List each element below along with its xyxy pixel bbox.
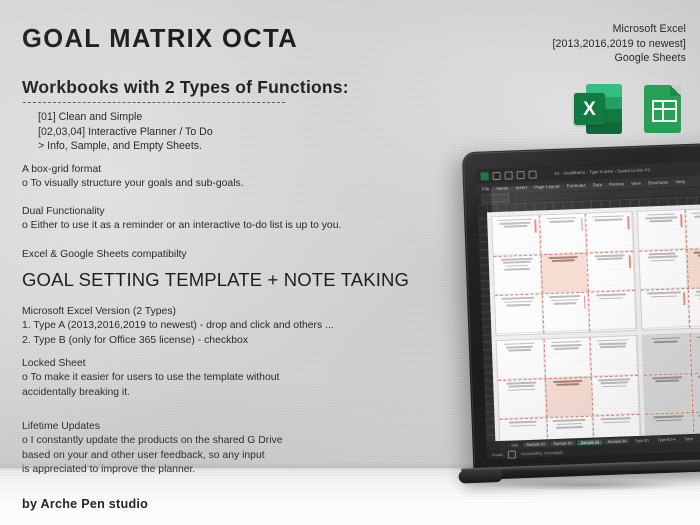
matrix-cell[interactable] [590, 335, 638, 376]
section-box-grid: A box-grid format o To visually structur… [22, 163, 244, 192]
section-excel-version: Microsoft Excel Version (2 Types) 1. Typ… [22, 305, 334, 348]
section-lifetime-updates: Lifetime Updates o I constantly update t… [22, 420, 283, 478]
matrix-cell[interactable] [591, 375, 639, 416]
list-item: [01] Clean and Simple [38, 110, 213, 125]
sheet-tab-type-b1[interactable]: Type B1 [632, 437, 652, 444]
sheet-tab-sample-02[interactable]: Sample 02 [550, 440, 575, 447]
sheets-icon-fold [670, 85, 681, 96]
matrix-cell[interactable] [685, 208, 700, 249]
section-line: o Either to use it as a reminder or an i… [22, 219, 341, 233]
section-compatibility: Excel & Google Sheets compatibilty [22, 248, 187, 262]
goal-matrix-board[interactable] [496, 334, 642, 442]
laptop-foot [458, 469, 502, 484]
matrix-cell[interactable] [539, 213, 587, 254]
section-heading: Microsoft Excel Version (2 Types) [22, 305, 334, 319]
goal-matrix-board[interactable] [637, 205, 700, 330]
section-heading: A box-grid format [22, 163, 244, 177]
undo-icon[interactable] [516, 171, 524, 179]
ribbon-tab-developer[interactable]: Developer [648, 179, 669, 185]
google-sheets-icon [638, 84, 686, 134]
autosave-toggle-icon[interactable] [492, 172, 500, 180]
page-title: GOAL MATRIX OCTA [22, 25, 298, 54]
compatibility-header: Microsoft Excel [2013,2016,2019 to newes… [552, 22, 686, 66]
laptop-screen: 01 - GoalMatrix - Type A.xlsm - Saved to… [476, 159, 700, 459]
ribbon-tab-review[interactable]: Review [609, 181, 624, 187]
matrix-cell[interactable] [494, 254, 542, 295]
sheet-tab-sample-04[interactable]: Sample 04 [605, 438, 630, 445]
section-line: accidentally breaking it. [22, 386, 279, 400]
name-box[interactable] [481, 194, 509, 204]
excel-icon-badge: X [574, 93, 605, 125]
sheets-icon-body [644, 85, 681, 133]
section-heading: Locked Sheet [22, 357, 279, 371]
matrix-cell[interactable] [542, 292, 590, 333]
matrix-cell[interactable] [497, 339, 545, 380]
section-line: is appreciated to improve the planner. [22, 463, 283, 477]
section-line: 1. Type A (2013,2016,2019 to newest) - d… [22, 319, 334, 333]
workbook-title: 01 - GoalMatrix - Type A.xlsm - Saved to… [554, 168, 650, 177]
status-accessibility[interactable]: Accessibility: Investigate [521, 450, 563, 455]
sheet-tab-sample-03[interactable]: Sample 03 [578, 439, 603, 446]
matrix-cell[interactable] [587, 251, 635, 292]
header-line-excel: Microsoft Excel [552, 22, 686, 37]
goal-matrix-board[interactable] [491, 210, 637, 335]
sheet-tab-info[interactable]: Info [508, 442, 521, 448]
header-line-sheets: Google Sheets [552, 51, 686, 66]
matrix-cell-highlight[interactable] [545, 376, 593, 417]
spreadsheet-grid[interactable] [487, 202, 700, 443]
matrix-cell[interactable] [585, 212, 633, 253]
ribbon-tab-help[interactable]: Help [676, 179, 686, 184]
sheet-tab-type[interactable]: Type [681, 435, 696, 441]
sheets-icon-table [652, 100, 677, 122]
list-item: > Info, Sample, and Empty Sheets. [38, 139, 213, 154]
section-line: o I constantly update the products on th… [22, 434, 283, 448]
matrix-cell[interactable] [495, 294, 543, 335]
section-line: 2. Type B (only for Office 365 license) … [22, 334, 334, 348]
sheet-tab-sample-01[interactable]: Sample 01 [523, 441, 548, 448]
accessibility-icon[interactable] [508, 450, 516, 458]
matrix-cell[interactable] [643, 334, 691, 375]
section-dual-functionality: Dual Functionality o Either to use it as… [22, 205, 341, 234]
goal-matrix-board-empty[interactable] [642, 329, 700, 443]
matrix-cell[interactable] [641, 288, 689, 329]
author-byline: by Arche Pen studio [22, 497, 148, 511]
matrix-cell[interactable] [639, 249, 687, 290]
save-icon[interactable] [504, 171, 512, 179]
section-line: o To visually structure your goals and s… [22, 177, 244, 191]
workbooks-list: [01] Clean and Simple [02,03,04] Interac… [38, 110, 213, 154]
goal-matrix-boards [487, 202, 700, 443]
excel-icon: X [574, 84, 622, 134]
laptop-mockup: 01 - GoalMatrix - Type A.xlsm - Saved to… [462, 141, 700, 487]
section-line: based on your and other user feedback, s… [22, 449, 283, 463]
section-heading: Excel & Google Sheets compatibilty [22, 248, 187, 262]
sheet-tab-type-b2a[interactable]: Type B2-A [655, 436, 679, 443]
status-ready: Ready [492, 452, 503, 456]
matrix-cell[interactable] [492, 215, 540, 256]
list-item: [02,03,04] Interactive Planner / To Do [38, 125, 213, 140]
section-locked-sheet: Locked Sheet o To make it easier for use… [22, 357, 279, 400]
app-icon-group: X [574, 84, 686, 136]
section-heading: Lifetime Updates [22, 420, 283, 434]
ribbon-tab-home[interactable]: Home [496, 185, 508, 190]
ribbon-tab-data[interactable]: Data [593, 182, 603, 187]
matrix-cell[interactable] [644, 373, 692, 414]
feature-heading: GOAL SETTING TEMPLATE + NOTE TAKING [22, 269, 409, 291]
excel-logo-icon [480, 172, 488, 180]
ribbon-tab-view[interactable]: View [631, 180, 641, 185]
excel-icon-letter: X [583, 100, 596, 119]
matrix-cell-highlight[interactable] [540, 253, 588, 294]
matrix-cell[interactable] [543, 337, 591, 378]
ribbon-tab-formulas[interactable]: Formulas [567, 182, 586, 188]
poster-canvas: GOAL MATRIX OCTA Workbooks with 2 Types … [0, 0, 700, 525]
matrix-cell[interactable] [638, 210, 686, 251]
matrix-cell[interactable] [588, 290, 636, 331]
workbooks-heading: Workbooks with 2 Types of Functions: [22, 77, 349, 98]
divider-dashed [23, 102, 285, 104]
ribbon-tab-page-layout[interactable]: Page Layout [534, 183, 560, 189]
matrix-cell[interactable] [498, 378, 546, 419]
section-line: o To make it easier for users to use the… [22, 371, 279, 385]
ribbon-tab-file[interactable]: File [482, 186, 490, 191]
header-line-versions: [2013,2016,2019 to newest] [552, 37, 686, 52]
section-heading: Dual Functionality [22, 205, 341, 219]
redo-icon[interactable] [528, 170, 536, 178]
ribbon-tab-insert[interactable]: Insert [515, 184, 527, 189]
